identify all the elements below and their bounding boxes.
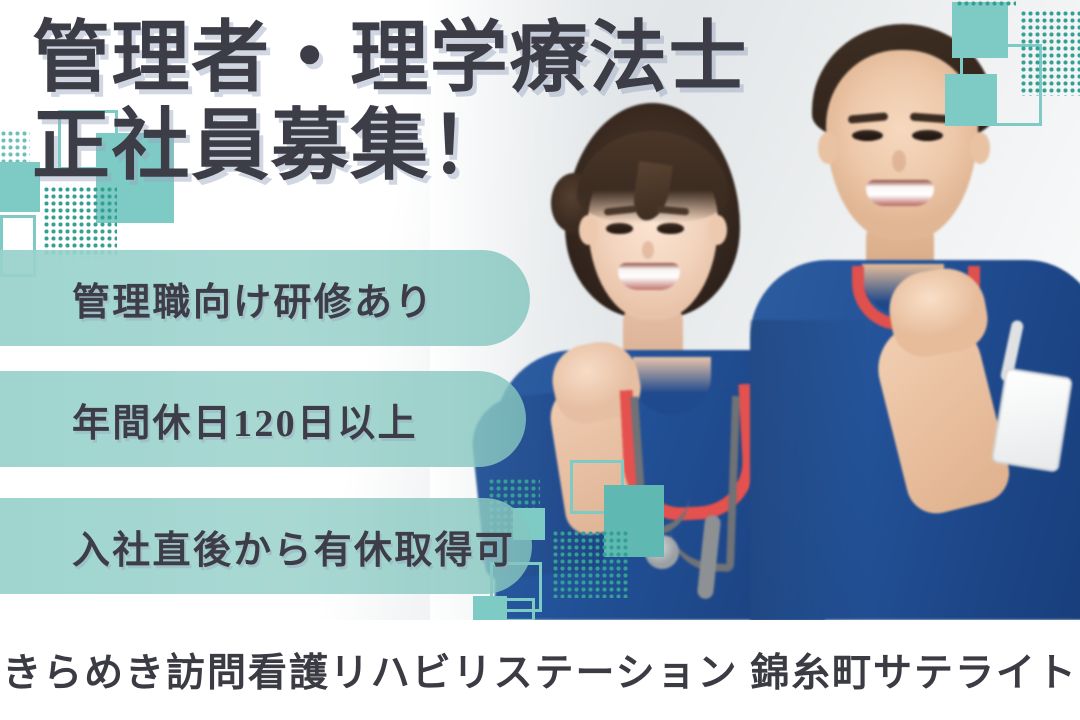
shoulder-shadow bbox=[750, 320, 870, 620]
decor-dot-grid-m2 bbox=[552, 530, 630, 598]
smiling-mouth-shape bbox=[866, 180, 934, 206]
ear-left-shape bbox=[579, 215, 598, 245]
ear-right-shape bbox=[708, 215, 727, 245]
decor-square-outline-m3 bbox=[499, 598, 535, 622]
benefit-bar-1: 管理職向け研修あり bbox=[0, 250, 530, 346]
nose-shape bbox=[892, 150, 906, 172]
decor-dot-grid-tr bbox=[1020, 10, 1080, 96]
eye-left-shape bbox=[852, 130, 883, 141]
benefit-label-3: 入社直後から有休取得可 bbox=[72, 519, 515, 574]
recruitment-banner: 管理者・理学療法士 正社員募集！ 管理職向け研修あり 年間休日120日以上 入社… bbox=[0, 0, 1080, 720]
benefit-label-1: 管理職向け研修あり bbox=[72, 271, 435, 326]
decor-dot-grid-tr-thin bbox=[956, 0, 1016, 8]
eye-right-shape bbox=[657, 223, 684, 234]
decor-square-filled-tr2 bbox=[945, 74, 997, 126]
benefit-bar-2: 年間休日120日以上 bbox=[0, 371, 526, 467]
organization-name: きらめき訪問看護リハビリステーション 錦糸町サテライト bbox=[2, 642, 1078, 698]
decor-dot-grid-l2 bbox=[43, 186, 117, 258]
benefit-bar-3: 入社直後から有休取得可 bbox=[0, 498, 532, 594]
smiling-mouth-shape bbox=[618, 263, 680, 290]
benefit-label-2: 年間休日120日以上 bbox=[72, 392, 418, 447]
eye-right-shape bbox=[912, 130, 943, 141]
eye-left-shape bbox=[606, 223, 633, 234]
nose-shape bbox=[642, 241, 654, 259]
footer-bar: きらめき訪問看護リハビリステーション 錦糸町サテライト bbox=[0, 620, 1080, 720]
ear-right-shape bbox=[970, 132, 990, 164]
banner-title: 管理者・理学療法士 正社員募集！ bbox=[32, 14, 832, 190]
